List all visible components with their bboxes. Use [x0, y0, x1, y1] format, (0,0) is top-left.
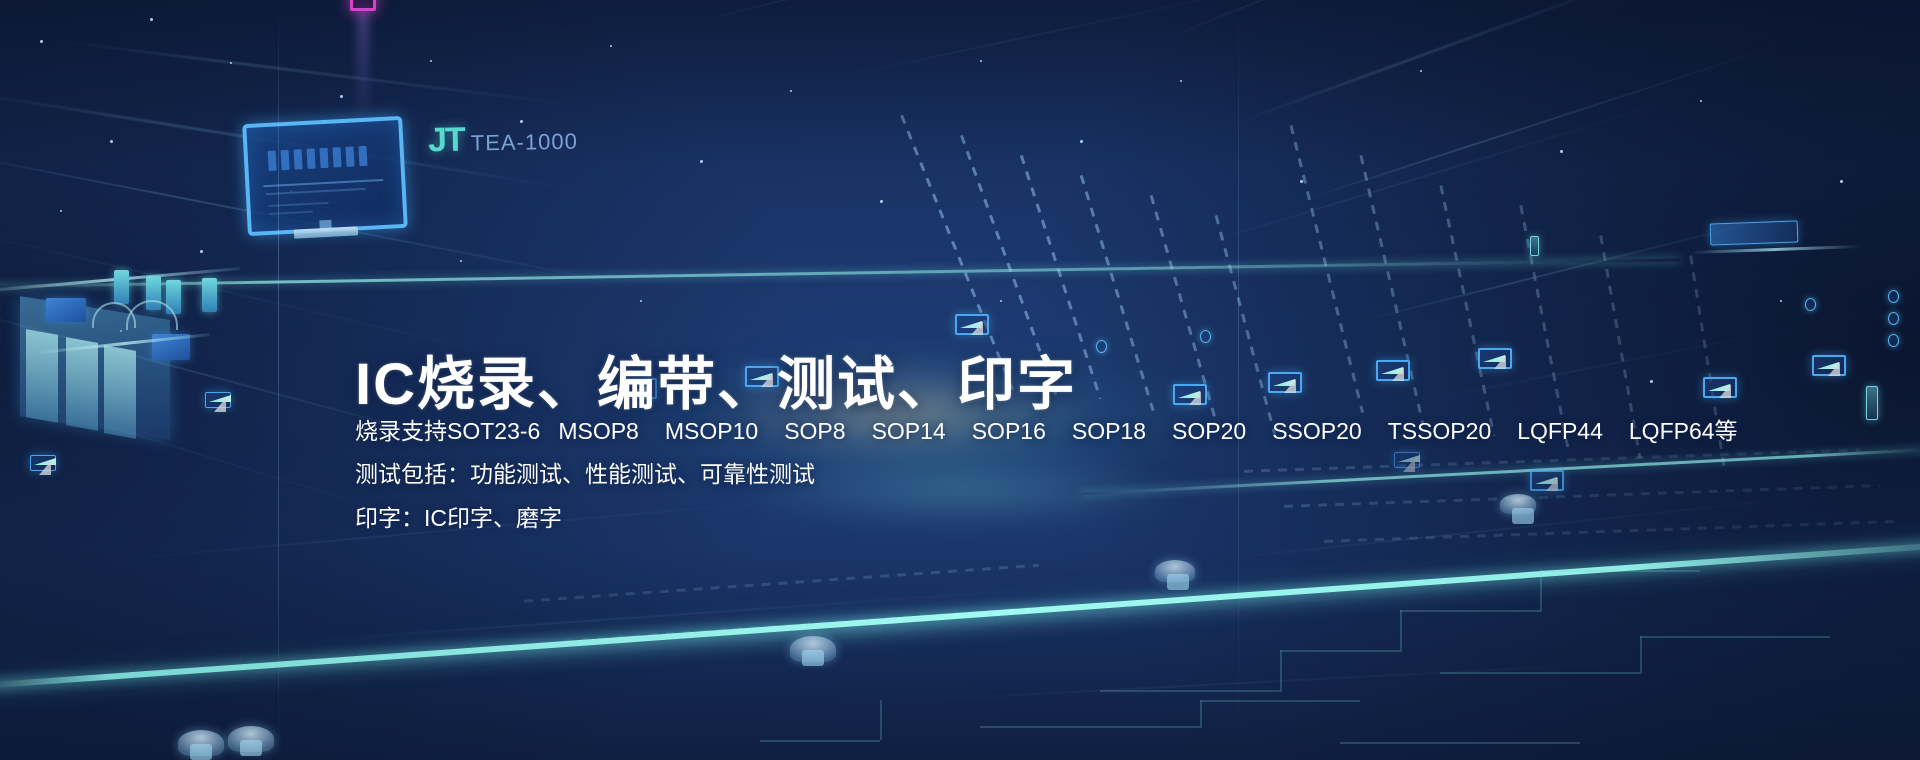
monitor-frame [242, 116, 408, 236]
screen-chip-row [268, 146, 368, 171]
test-scope-line: 测试包括：功能测试、性能测试、可靠性测试 [355, 461, 1738, 487]
indicator-pod [1200, 330, 1211, 343]
conveyor-foot [178, 730, 224, 756]
burn-support-lead: 烧录支持SOT23-6 [355, 418, 540, 444]
machine-tube [202, 278, 217, 312]
brand-logo: JT TEA-1000 [428, 121, 578, 158]
subtitle-block: 烧录支持SOT23-6 MSOP8MSOP10SOP8SOP14SOP16SOP… [355, 418, 1738, 531]
floating-monitor-icon [955, 314, 989, 335]
floating-monitor-icon [1703, 377, 1737, 398]
chip-bar-icon [1530, 236, 1539, 256]
floating-monitor-icon [205, 392, 231, 408]
package-name: SOP18 [1072, 418, 1146, 444]
machine-module [46, 298, 86, 322]
sweep-glow [0, 538, 1920, 703]
package-name: MSOP8 [558, 418, 639, 444]
brand-mark: JT [428, 123, 464, 158]
magenta-marker-icon [350, 0, 376, 11]
guide-line [1238, 0, 1239, 760]
monitor-screen [253, 126, 398, 225]
indicator-pod [1096, 340, 1107, 353]
conveyor-foot [1155, 560, 1195, 582]
package-name: SOP8 [784, 418, 845, 444]
chip-bar-icon [1866, 386, 1878, 420]
indicator-pod [1888, 334, 1899, 347]
machine-tube [114, 270, 129, 304]
floating-monitor-icon [1173, 384, 1207, 405]
package-name: SOP14 [872, 418, 946, 444]
production-machine-cluster [0, 250, 230, 460]
marker-light-beam [358, 10, 368, 130]
package-list-suffix: 等 [1715, 418, 1738, 444]
floating-monitor-icon [1812, 355, 1846, 376]
machine-fin [66, 337, 98, 431]
workstation-monitor-icon [242, 116, 408, 236]
floating-monitor-icon [30, 455, 56, 471]
floating-monitor-icon [1478, 348, 1512, 369]
rack-shelf-line [1690, 245, 1860, 254]
floating-monitor-icon [1268, 372, 1302, 393]
package-name: MSOP10 [665, 418, 758, 444]
indicator-pod [1888, 312, 1899, 325]
package-name: SOP20 [1172, 418, 1246, 444]
package-name: SOP16 [972, 418, 1046, 444]
conveyor-foot [228, 726, 274, 752]
rack-device-icon [1710, 220, 1799, 245]
brand-model: TEA-1000 [471, 131, 578, 155]
guide-line [278, 0, 279, 760]
package-name: SSOP20 [1272, 418, 1362, 444]
package-name: TSSOP20 [1388, 418, 1492, 444]
hero-banner: JT TEA-1000 IC烧录、编带、测试、印字 烧录支持SOT23-6 MS… [0, 0, 1920, 760]
conveyor-foot [790, 636, 836, 662]
page-title: IC烧录、编带、测试、印字 [355, 355, 1077, 416]
upper-rail-line [0, 258, 1680, 288]
package-name: LQFP44 [1517, 418, 1603, 444]
package-list: MSOP8MSOP10SOP8SOP14SOP16SOP18SOP20SSOP2… [558, 418, 1737, 444]
machine-fin [26, 329, 58, 423]
indicator-pod [1805, 298, 1816, 311]
floating-monitor-icon [1376, 360, 1410, 381]
monitor-stand [294, 226, 358, 238]
package-name: LQFP64 [1629, 418, 1715, 444]
machine-fin [104, 345, 136, 439]
printing-line: 印字：IC印字、磨字 [355, 505, 1738, 531]
indicator-pod [1888, 290, 1899, 303]
burn-support-line: 烧录支持SOT23-6 MSOP8MSOP10SOP8SOP14SOP16SOP… [355, 418, 1738, 444]
